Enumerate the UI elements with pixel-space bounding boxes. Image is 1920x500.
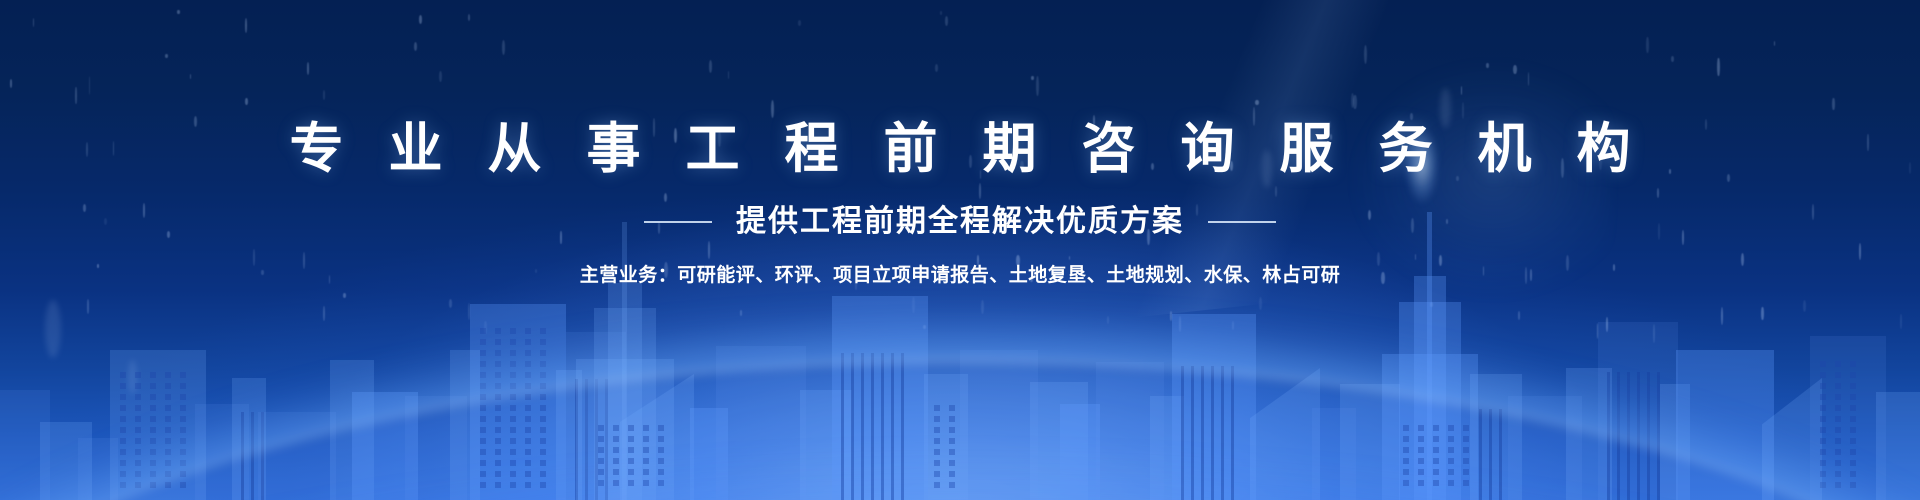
left-rule-decor: [644, 221, 712, 223]
banner-subtitle: 提供工程前期全程解决优质方案: [736, 207, 1184, 237]
hero-banner: 专 业 从 事 工 程 前 期 咨 询 服 务 机 构 提供工程前期全程解决优质…: [0, 0, 1920, 500]
banner-content: 专 业 从 事 工 程 前 期 咨 询 服 务 机 构 提供工程前期全程解决优质…: [0, 0, 1920, 285]
banner-title: 专 业 从 事 工 程 前 期 咨 询 服 务 机 构: [0, 122, 1920, 176]
right-rule-decor: [1208, 221, 1276, 223]
banner-services-line: 主营业务：可研能评、环评、项目立项申请报告、土地复垦、土地规划、水保、林占可研: [0, 266, 1920, 285]
banner-subtitle-row: 提供工程前期全程解决优质方案: [0, 207, 1920, 237]
skyline-building: [1876, 392, 1920, 500]
building-window-grid: [1820, 361, 1856, 488]
